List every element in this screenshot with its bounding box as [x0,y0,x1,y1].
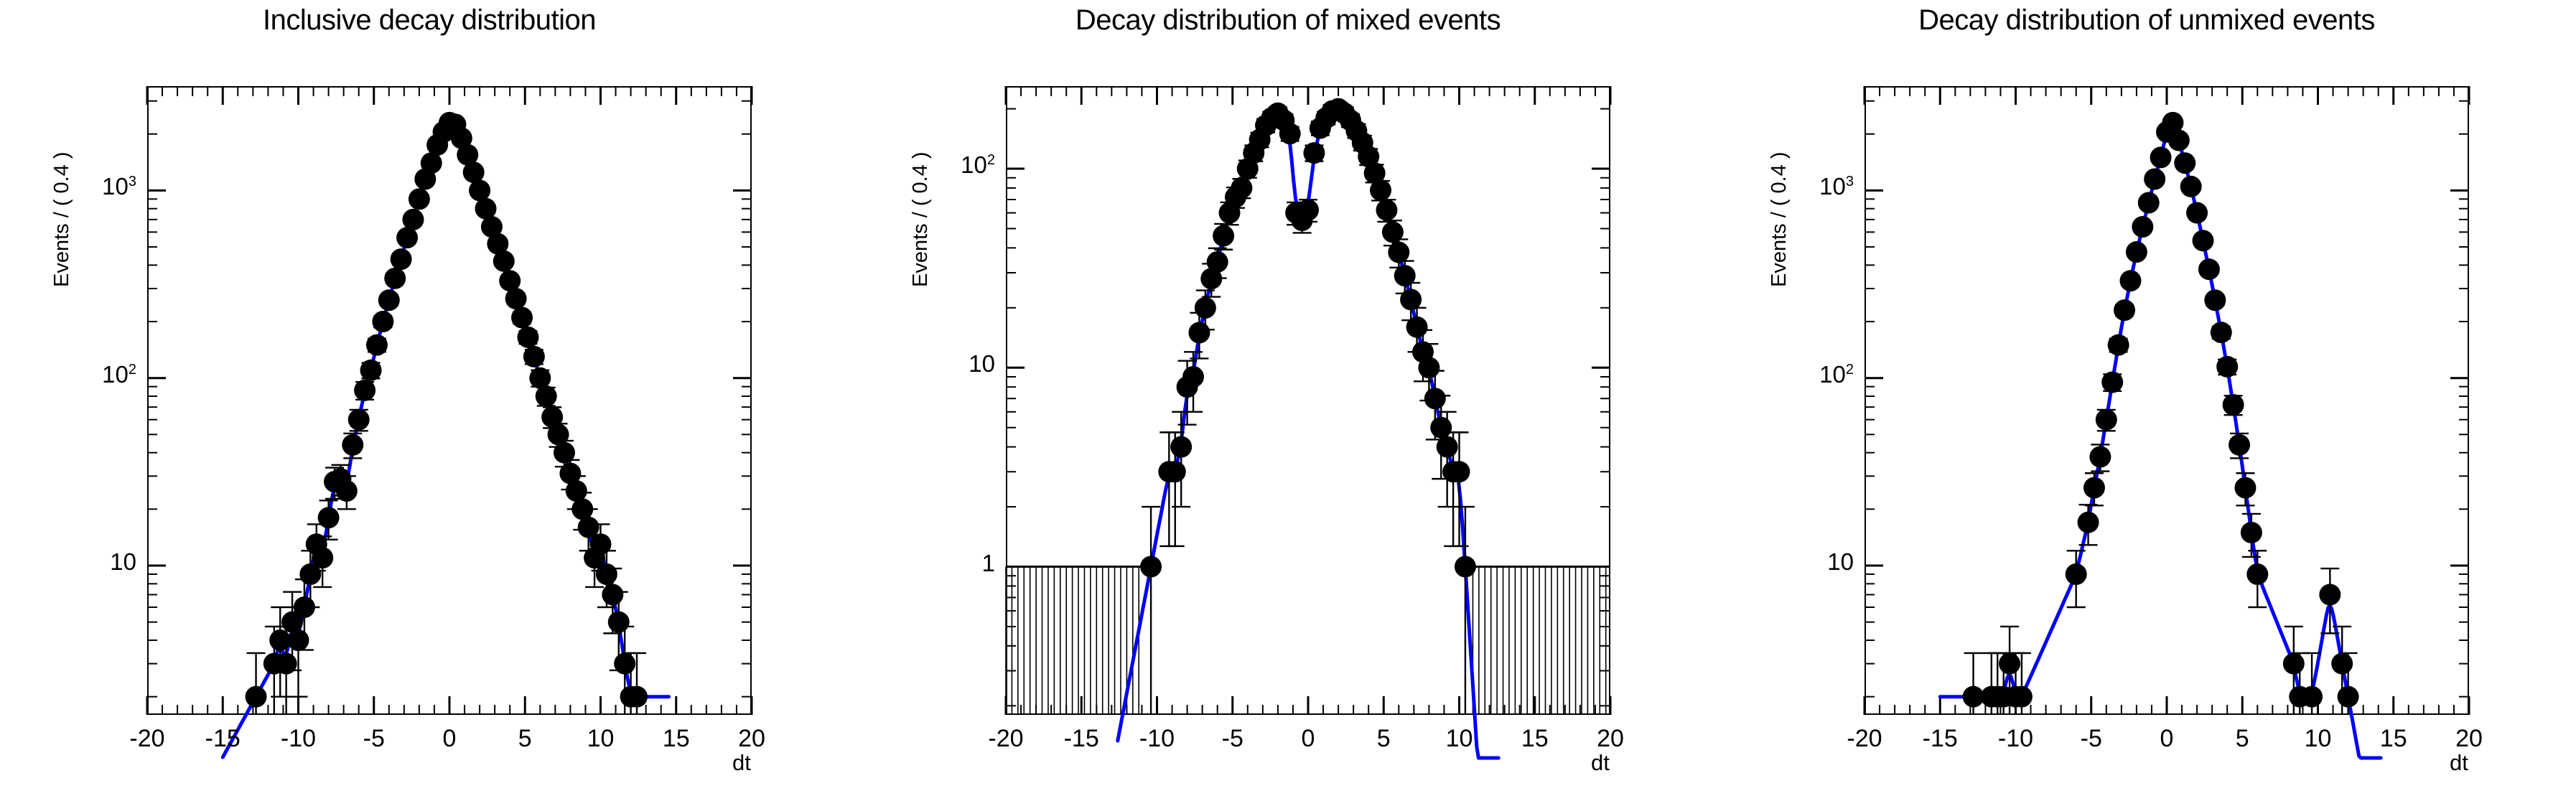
x-tick-label: 15 [2351,725,2437,753]
x-axis-title: dt [2450,750,2468,776]
x-tick-label: -5 [331,725,417,753]
x-tick-label: -10 [1114,725,1200,753]
y-tick-label: 10 [1782,548,1854,576]
x-tick-label: -20 [963,725,1049,753]
x-tick-label: 0 [406,725,493,753]
x-tick-label: -10 [256,725,342,753]
plot-area [0,0,859,801]
y-tick-label: 1 [923,550,995,577]
x-tick-label: 20 [2426,725,2512,753]
x-tick-label: -15 [1897,725,1983,753]
panel-mixed: Decay distribution of mixed events Event… [859,0,1717,801]
x-tick-label: 5 [1340,725,1427,753]
x-tick-label: -20 [104,725,190,753]
x-tick-label: 10 [1417,725,1503,753]
x-tick-label: 0 [1265,725,1351,753]
x-tick-label: 5 [482,725,568,753]
y-axis-title: Events / ( 0.4 ) [1768,151,1791,287]
x-tick-label: 10 [2275,725,2361,753]
x-tick-label: -15 [179,725,266,753]
x-tick-label: -5 [1190,725,1276,753]
plot-area [859,0,1717,801]
figure-canvas: Inclusive decay distribution Events / ( … [0,0,2576,801]
x-axis-title: dt [1591,750,1610,776]
y-tick-label: 103 [1782,173,1854,200]
y-tick-label: 10 [65,548,136,576]
y-tick-label: 102 [65,361,136,388]
y-axis-title: Events / ( 0.4 ) [50,151,74,287]
y-tick-label: 10 [923,350,995,378]
x-tick-label: 10 [558,725,644,753]
plot-area [1717,0,2576,801]
x-tick-label: 20 [709,725,795,753]
y-tick-label: 102 [1782,361,1854,388]
x-tick-label: 20 [1567,725,1653,753]
panel-unmixed: Decay distribution of unmixed events Eve… [1717,0,2576,801]
x-tick-label: 5 [2199,725,2285,753]
x-tick-label: -10 [1973,725,2059,753]
x-tick-label: -15 [1038,725,1124,753]
x-tick-label: 15 [633,725,719,753]
x-axis-title: dt [732,750,751,776]
x-tick-label: 0 [2124,725,2210,753]
panel-inclusive: Inclusive decay distribution Events / ( … [0,0,859,801]
x-tick-label: 15 [1492,725,1578,753]
x-tick-label: -5 [2048,725,2134,753]
y-tick-label: 102 [923,151,995,179]
x-tick-label: -20 [1821,725,1908,753]
y-tick-label: 103 [65,173,136,200]
